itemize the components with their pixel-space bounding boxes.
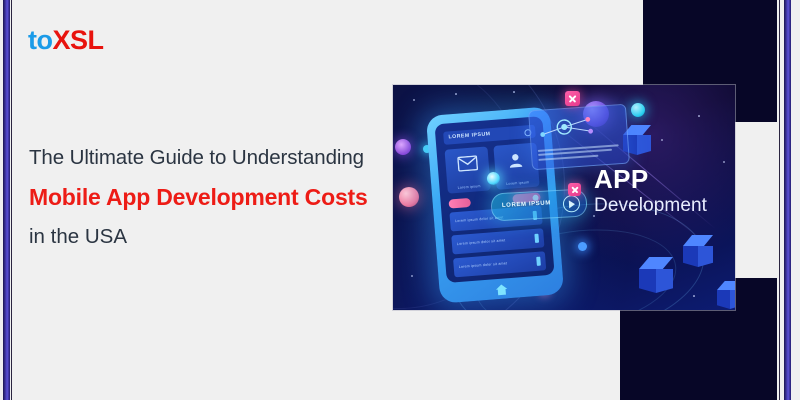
star-speck — [723, 161, 725, 163]
star-speck — [411, 275, 413, 277]
screen-header-bar: LOREM IPSUM — [443, 125, 536, 145]
cube-icon — [683, 235, 713, 267]
star-speck — [455, 93, 457, 95]
list-item-label: Lorem ipsum dolor sit amet — [457, 238, 506, 246]
floating-card-text-lines — [538, 144, 623, 163]
glow-orb-pink — [399, 187, 419, 207]
star-speck — [413, 99, 415, 101]
hero-caption: APP Development — [594, 166, 707, 217]
floating-info-card — [528, 104, 630, 171]
tile-row: Lorem ipsum Lorem ipsum — [445, 143, 540, 194]
logo-text-sl: SL — [70, 25, 104, 55]
pill-indicator-left — [448, 198, 471, 209]
list-item-bar-icon — [534, 234, 539, 243]
list-item: Lorem ipsum dolor sit amet — [451, 228, 544, 254]
headline-block: The Ultimate Guide to Understanding Mobi… — [29, 148, 379, 247]
toxsl-logo[interactable]: toXSL — [28, 27, 104, 54]
home-icon — [495, 283, 509, 296]
banner-canvas: toXSL The Ultimate Guide to Understandin… — [0, 0, 800, 400]
network-node-icon — [537, 112, 607, 141]
list-item: Lorem ipsum dolor sit amet — [453, 251, 546, 277]
left-stripe-hairline — [11, 0, 12, 400]
list-item-label: Lorem ipsum dolor sit amet — [459, 261, 508, 269]
star-speck — [698, 115, 700, 117]
tile-caption: Lorem ipsum — [447, 183, 490, 190]
headline-line-3: in the USA — [29, 227, 379, 248]
glow-orb-cyan — [631, 103, 645, 117]
tile-mail: Lorem ipsum — [445, 146, 492, 193]
hero-caption-title: APP — [594, 166, 707, 192]
envelope-icon — [457, 155, 478, 172]
logo-text-to: to — [28, 25, 52, 55]
left-accent-stripe — [3, 0, 10, 400]
right-accent-stripe — [784, 0, 791, 400]
star-speck — [513, 91, 515, 93]
glow-dot-blue — [578, 242, 587, 251]
screen-header-title: LOREM IPSUM — [448, 131, 490, 140]
user-icon — [507, 152, 524, 169]
right-stripe-hairline — [779, 0, 780, 400]
glow-orb-violet — [395, 139, 411, 155]
close-badge-icon — [568, 183, 581, 196]
logo-text-x: X — [52, 25, 70, 55]
play-circle-icon — [563, 195, 581, 213]
hero-illustration: LOREM IPSUM Lorem ipsum — [393, 85, 735, 310]
star-speck — [661, 139, 663, 141]
list-item-bar-icon — [536, 257, 541, 266]
hero-caption-subtitle: Development — [594, 195, 707, 217]
play-card-label: LOREM IPSUM — [502, 200, 551, 209]
cube-icon — [717, 281, 735, 309]
close-badge-icon — [565, 91, 580, 106]
star-speck — [693, 295, 695, 297]
cube-icon — [639, 257, 673, 293]
tile-caption: Lorem ipsum — [496, 179, 539, 186]
headline-line-2: Mobile App Development Costs — [29, 186, 379, 209]
headline-line-1: The Ultimate Guide to Understanding — [29, 148, 379, 169]
